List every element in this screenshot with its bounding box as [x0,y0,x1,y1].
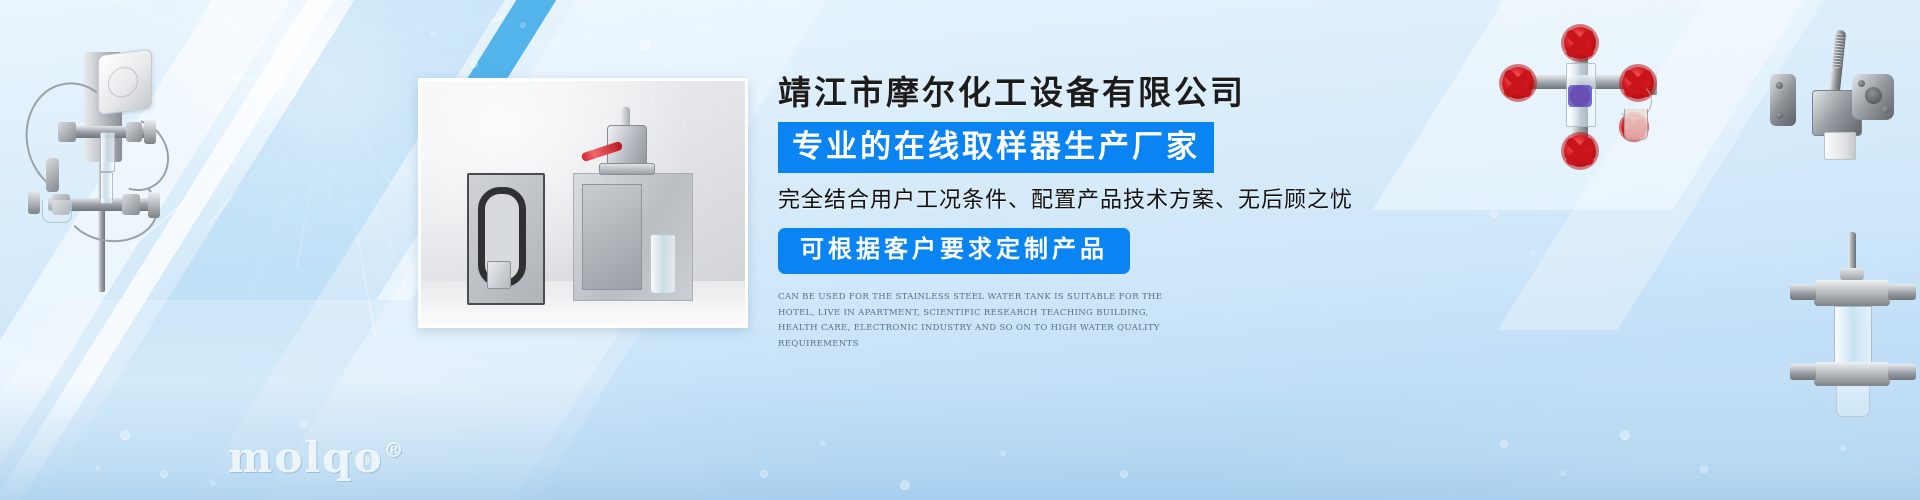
flange-bolt-4 [1882,106,1889,113]
handwheel-left [1502,67,1534,99]
brand-seal-inner [1568,85,1592,107]
sunburst-ray [329,80,391,185]
lever-valve-image [1760,30,1910,180]
water-droplet [470,60,478,68]
sunburst-ray [226,19,331,81]
upper-body [1814,280,1890,306]
sunburst-ray [240,80,331,325]
flange-right-upper [144,120,156,144]
water-droplet [1500,440,1508,448]
watermark-text: molqo [228,433,384,482]
handwheel-top [1564,27,1596,59]
sampling-cabinet [573,173,693,301]
lower-body [1814,362,1890,386]
sunburst-ray [329,80,331,200]
inlet-flange [1770,74,1796,126]
water-droplet [210,480,216,486]
sight-glass-valve-image [1790,232,1920,422]
water-droplet [640,40,650,50]
registered-mark: ® [384,438,406,462]
sunburst-ray [210,79,330,81]
door-latch [487,261,511,289]
water-droplet [1700,465,1708,473]
sunburst-ray [329,0,391,81]
sunburst-ray [329,0,364,80]
sunburst-ray [329,0,331,80]
headline-highlight: 专业的在线取样器生产厂家 [778,122,1214,173]
sample-bottle [650,234,676,294]
valve-flange [599,163,655,175]
banner-text-block: 靖江市摩尔化工设备有限公司 专业的在线取样器生产厂家 完全结合用户工况条件、配置… [778,72,1398,353]
water-droplet [700,30,706,36]
flange-bolt-3 [1858,80,1865,87]
sunburst-ray [207,79,331,226]
water-droplet [900,480,910,490]
company-name: 靖江市摩尔化工设备有限公司 [778,72,1398,113]
water-droplet [95,465,101,471]
outlet-nozzle [1824,132,1856,160]
sunburst-ray [184,0,331,81]
sunburst-ray [329,0,453,81]
sunburst-ray [284,0,331,80]
left-product-image [6,22,196,292]
sunburst-ray [264,0,331,80]
sight-glass-tube [1834,306,1872,366]
sunburst-ray [269,0,331,81]
side-port-left [1790,284,1816,300]
sub-headline: 完全结合用户工况条件、配置产品技术方案、无后顾之忧 [778,186,1398,215]
collection-cup [1836,386,1870,417]
stem-cap [1840,268,1864,280]
cross-sampler-image [1498,35,1668,160]
water-droplet [820,440,826,446]
english-description: CAN BE USED FOR THE STAINLESS STEEL WATE… [778,290,1183,353]
sunburst-ray [269,80,331,185]
sunburst-ray [330,19,435,81]
water-droplet [520,22,526,28]
watermark-logo: molqo® [228,433,406,482]
water-droplet [1000,450,1006,456]
sunburst-ray [329,80,396,259]
water-droplet [300,420,308,428]
sampling-valve-head [593,107,657,179]
center-product-photo [418,78,748,328]
water-droplet [1120,470,1128,478]
cabinet-interior [582,184,642,290]
water-droplet [160,470,168,478]
sample-cup [1624,109,1648,140]
sunburst-ray [329,0,420,80]
sunburst-ray [330,14,509,81]
sight-tube [100,132,115,172]
valve-nut-1 [58,122,76,142]
flange-bolt-1 [1776,82,1783,89]
flange-left-lower [28,190,40,214]
promotional-banner: 靖江市摩尔化工设备有限公司 专业的在线取样器生产厂家 完全结合用户工况条件、配置… [0,0,1920,500]
side-port-right [1888,284,1916,300]
relief-valve [46,158,59,192]
sunburst-ray [296,80,331,267]
custom-order-pill: 可根据客户要求定制产品 [778,228,1130,274]
water-droplet [430,30,436,36]
water-droplet [120,430,130,440]
flange-right-lower [148,192,160,218]
cabinet-door [467,173,545,305]
sunburst-ray [329,80,376,336]
water-droplet [1620,430,1630,440]
water-droplet [760,470,768,478]
lever-handle [1829,30,1847,95]
valve-nut-2 [126,122,142,142]
flange-bolt-2 [1776,112,1783,119]
drain-port-left [1790,364,1816,380]
water-droplet [1560,470,1566,476]
water-droplet [668,62,674,68]
sunburst-ray [330,34,586,81]
water-droplet [1530,250,1536,256]
drain-port-right [1888,364,1916,380]
water-droplet [1840,445,1846,451]
lower-sight-tube [100,172,113,204]
sample-beaker [42,200,72,223]
water-droplet [1490,210,1498,218]
sunburst-ray [329,0,529,81]
sunburst-ray [226,79,331,141]
valve-nut-4 [122,194,140,215]
handwheel-bottom [1564,135,1596,167]
